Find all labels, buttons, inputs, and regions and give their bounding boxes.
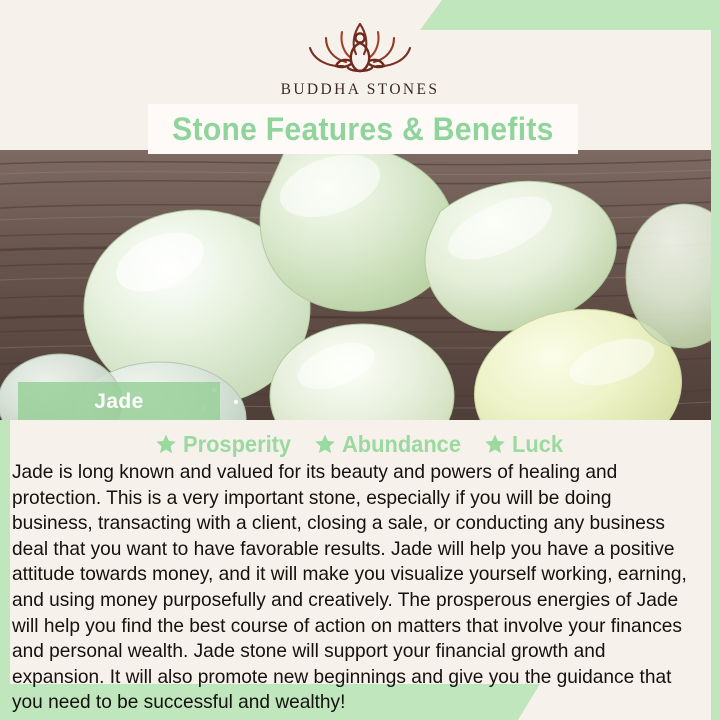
- benefit-label: Abundance: [342, 431, 461, 458]
- benefits-row: Prosperity Abundance Luck: [10, 428, 711, 460]
- brand-name: BUDDHA STONES: [281, 81, 440, 99]
- benefit-label: Prosperity: [183, 431, 291, 458]
- star-icon: [155, 433, 177, 455]
- page-title: Stone Features & Benefits: [172, 111, 553, 148]
- star-icon: [484, 433, 506, 455]
- stone-photo: Jade: [0, 150, 711, 420]
- stone-info-card: BUDDHA STONES Stone Features & Benefits: [0, 0, 720, 720]
- benefit-item: Prosperity: [155, 431, 297, 458]
- benefit-label: Luck: [512, 431, 563, 458]
- stone-name-text: Jade: [94, 390, 143, 414]
- title-banner: Stone Features & Benefits: [148, 104, 578, 154]
- lotus-meditation-icon: [298, 16, 422, 78]
- stone-name-label: Jade: [18, 382, 220, 420]
- brand-logo: BUDDHA STONES: [0, 16, 720, 106]
- stone-description: Jade is long known and valued for its be…: [12, 460, 694, 716]
- jade-stones-image: [0, 150, 711, 420]
- benefit-item: Abundance: [314, 431, 467, 458]
- benefit-item: Luck: [484, 431, 566, 458]
- star-icon: [314, 433, 336, 455]
- right-edge-accent: [711, 0, 720, 720]
